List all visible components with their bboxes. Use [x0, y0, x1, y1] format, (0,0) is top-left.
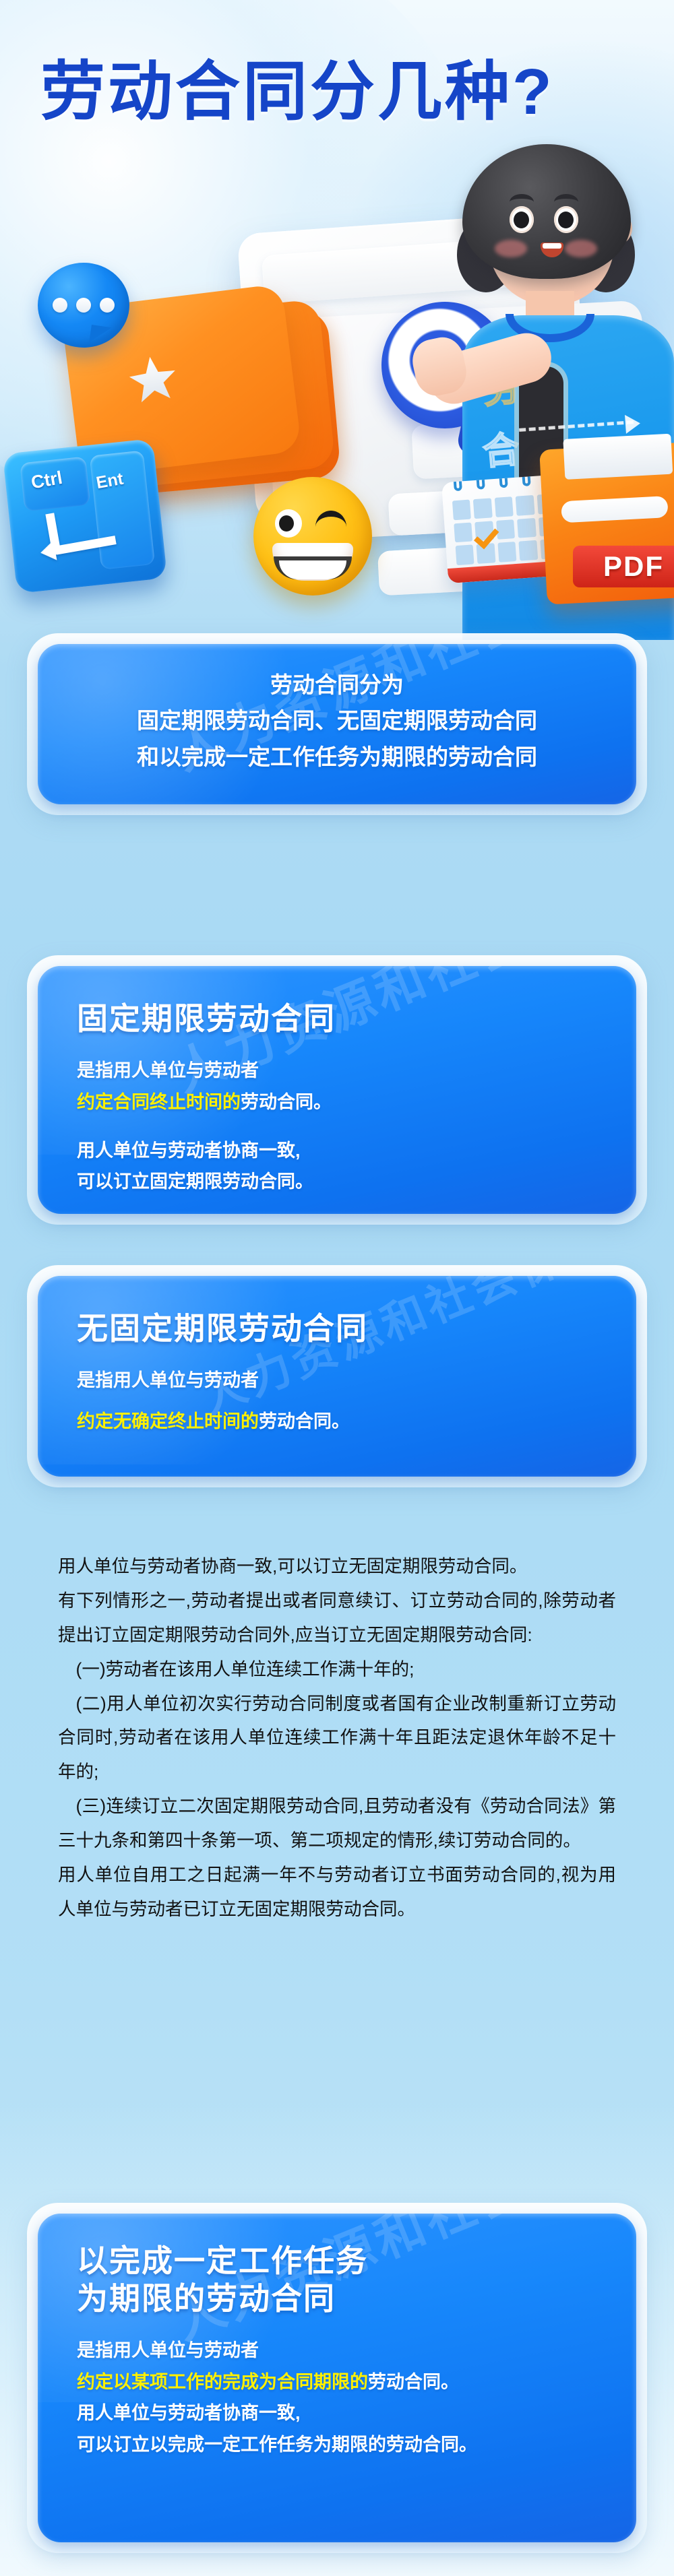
task-based-def-line: 约定以某项工作的完成为合同期限的劳动合同。	[77, 2366, 597, 2397]
character-blush	[495, 240, 527, 257]
task-based-note-2: 可以订立以完成一定工作任务为期限的劳动合同。	[77, 2429, 597, 2460]
intro-card-surface: 人力资源和社会保障 劳动合同分为 固定期限劳动合同、无固定期限劳动合同 和以完成…	[38, 644, 636, 804]
fixed-term-card-surface: 人力资源和社会保障 固定期限劳动合同 是指用人单位与劳动者 约定合同终止时间的劳…	[38, 966, 636, 1214]
bubble-dot	[53, 298, 67, 313]
emoji-wink	[315, 511, 346, 527]
fixed-term-note-1: 用人单位与劳动者协商一致,	[77, 1135, 597, 1166]
prose-paragraph: (二)用人单位初次实行劳动合同制度或者国有企业改制重新订立劳动合同时,劳动者在该…	[58, 1687, 616, 1790]
emoji-eye	[275, 509, 302, 538]
task-based-note-1: 用人单位与劳动者协商一致,	[77, 2397, 597, 2428]
task-based-def-lead: 是指用人单位与劳动者	[77, 2335, 597, 2366]
intro-line-3: 和以完成一定工作任务为期限的劳动合同	[65, 739, 609, 775]
task-based-title: 以完成一定工作任务 为期限的劳动合同	[38, 2214, 636, 2317]
bubble-dot	[76, 298, 91, 313]
speech-bubble-icon	[38, 263, 129, 348]
open-ended-def-line: 约定无确定终止时间的劳动合同。	[77, 1406, 597, 1437]
prose-paragraph: 有下列情形之一,劳动者提出或者同意续订、订立劳动合同的,除劳动者提出订立固定期限…	[58, 1584, 616, 1652]
intro-line-1: 劳动合同分为	[65, 667, 609, 703]
task-based-card: 人力资源和社会保障 以完成一定工作任务 为期限的劳动合同 是指用人单位与劳动者 …	[27, 2203, 647, 2553]
fixed-term-def-line: 约定合同终止时间的劳动合同。	[77, 1087, 597, 1118]
open-ended-def-tail: 劳动合同。	[259, 1411, 350, 1431]
character-hair	[462, 144, 631, 279]
bubble-dot	[100, 298, 115, 313]
page-title: 劳动合同分几种?	[40, 54, 634, 130]
open-ended-card-surface: 人力资源和社会保障 无固定期限劳动合同 是指用人单位与劳动者 约定无确定终止时间…	[38, 1276, 636, 1477]
fixed-term-card: 人力资源和社会保障 固定期限劳动合同 是指用人单位与劳动者 约定合同终止时间的劳…	[27, 955, 647, 1225]
pdf-badge-label: PDF	[573, 546, 674, 587]
hero-illustration: Ctrl Ent	[0, 141, 674, 640]
fixed-term-highlight: 约定合同终止时间的	[77, 1092, 241, 1112]
prose-paragraph: 用人单位自用工之日起满一年不与劳动者订立书面劳动合同的,视为用人单位与劳动者已订…	[58, 1858, 616, 1927]
fixed-term-def-tail: 劳动合同。	[241, 1092, 332, 1112]
emoji-mouth	[272, 543, 353, 581]
task-based-def-tail: 劳动合同。	[368, 2372, 459, 2392]
open-ended-def-lead: 是指用人单位与劳动者	[77, 1365, 597, 1396]
pdf-bar	[561, 496, 668, 523]
hero-section: 劳动合同分几种? Ctrl Ent	[0, 0, 674, 647]
open-ended-highlight: 约定无确定终止时间的	[77, 1411, 259, 1431]
open-ended-card: 人力资源和社会保障 无固定期限劳动合同 是指用人单位与劳动者 约定无确定终止时间…	[27, 1265, 647, 1487]
task-based-title-line-2: 为期限的劳动合同	[77, 2280, 636, 2317]
prose-paragraph: (一)劳动者在该用人单位连续工作满十年的;	[58, 1652, 616, 1687]
intro-line-2: 固定期限劳动合同、无固定期限劳动合同	[65, 703, 609, 738]
fixed-term-def-lead: 是指用人单位与劳动者	[77, 1055, 597, 1086]
character-eye	[510, 206, 534, 233]
intro-card-text: 劳动合同分为 固定期限劳动合同、无固定期限劳动合同 和以完成一定工作任务为期限的…	[38, 644, 636, 775]
fixed-term-body: 是指用人单位与劳动者 约定合同终止时间的劳动合同。 用人单位与劳动者协商一致, …	[38, 1037, 636, 1198]
open-ended-title: 无固定期限劳动合同	[38, 1276, 636, 1347]
character-blush	[565, 240, 597, 257]
character-eye	[554, 206, 578, 233]
fixed-term-title: 固定期限劳动合同	[38, 966, 636, 1037]
intro-card: 人力资源和社会保障 劳动合同分为 固定期限劳动合同、无固定期限劳动合同 和以完成…	[27, 633, 647, 815]
prose-paragraph: (三)连续订立二次固定期限劳动合同,且劳动者没有《劳动合同法》第三十九条和第四十…	[58, 1789, 616, 1858]
task-based-highlight: 约定以某项工作的完成为合同期限的	[77, 2372, 368, 2392]
open-ended-prose: 用人单位与劳动者协商一致,可以订立无固定期限劳动合同。 有下列情形之一,劳动者提…	[0, 1508, 674, 2168]
ctrl-enter-key-icon: Ctrl Ent	[3, 439, 168, 593]
open-ended-body: 是指用人单位与劳动者 约定无确定终止时间的劳动合同。	[38, 1347, 636, 1437]
fixed-term-note-2: 可以订立固定期限劳动合同。	[77, 1166, 597, 1197]
task-based-card-surface: 人力资源和社会保障 以完成一定工作任务 为期限的劳动合同 是指用人单位与劳动者 …	[38, 2214, 636, 2542]
task-based-title-line-1: 以完成一定工作任务	[77, 2242, 636, 2280]
prose-paragraph: 用人单位与劳动者协商一致,可以订立无固定期限劳动合同。	[58, 1549, 616, 1584]
pdf-paper	[563, 434, 673, 480]
winking-emoji-icon	[253, 477, 372, 595]
task-based-body: 是指用人单位与劳动者 约定以某项工作的完成为合同期限的劳动合同。 用人单位与劳动…	[38, 2317, 636, 2460]
